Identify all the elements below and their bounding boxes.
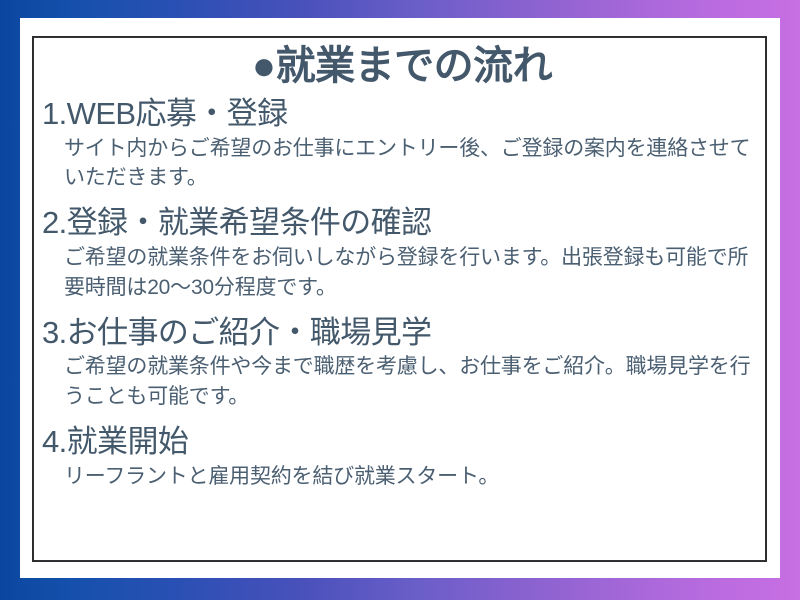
step-body-1: サイト内からご希望のお仕事にエントリー後、ご登録の案内を連絡させていただきます。 [42,134,762,194]
step-item-4: 4.就業開始 リーフラントと雇用契約を結び就業スタート。 [42,423,762,492]
step-heading-4: 4.就業開始 [42,423,762,461]
white-card: ●就業までの流れ 1.WEB応募・登録 サイト内からご希望のお仕事にエントリー後… [20,18,780,578]
step-item-2: 2.登録・就業希望条件の確認 ご希望の就業条件をお伺いしながら登録を行います。出… [42,204,762,302]
poster-canvas: ●就業までの流れ 1.WEB応募・登録 サイト内からご希望のお仕事にエントリー後… [0,0,800,600]
step-body-2: ご希望の就業条件をお伺いしながら登録を行います。出張登録も可能で所要時間は20～… [42,243,762,303]
page-title: ●就業までの流れ [42,44,762,89]
step-heading-2: 2.登録・就業希望条件の確認 [42,204,762,242]
step-item-3: 3.お仕事のご紹介・職場見学 ご希望の就業条件や今まで職歴を考慮し、お仕事をご紹… [42,314,762,412]
step-heading-3: 3.お仕事のご紹介・職場見学 [42,314,762,352]
step-body-4: リーフラントと雇用契約を結び就業スタート。 [42,462,762,492]
poster-content: ●就業までの流れ 1.WEB応募・登録 サイト内からご希望のお仕事にエントリー後… [42,44,762,560]
step-body-3: ご希望の就業条件や今まで職歴を考慮し、お仕事をご紹介。職場見学を行うことも可能で… [42,352,762,412]
step-item-1: 1.WEB応募・登録 サイト内からご希望のお仕事にエントリー後、ご登録の案内を連… [42,95,762,193]
step-heading-1: 1.WEB応募・登録 [42,95,762,133]
